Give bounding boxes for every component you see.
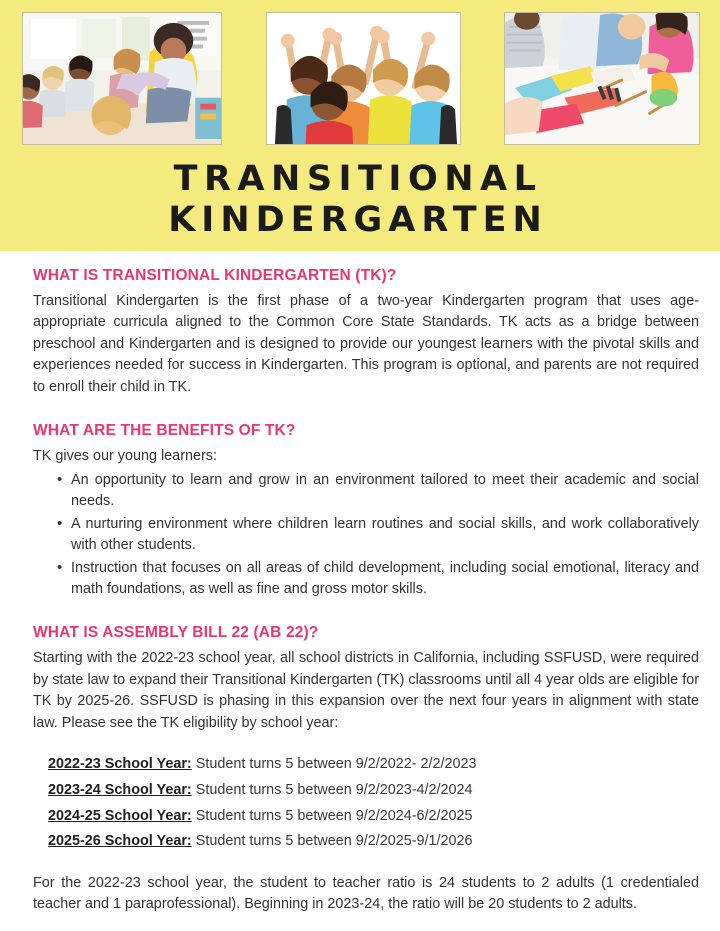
children-cheering-photo: [266, 12, 461, 145]
page-title: TRANSITIONAL KINDERGARTEN: [0, 159, 720, 240]
teacher-reading-to-children-photo: [22, 12, 222, 145]
list-item: A nurturing environment where children l…: [57, 514, 699, 557]
section-what-is-tk: WHAT IS TRANSITIONAL KINDERGARTEN (TK)? …: [33, 267, 700, 398]
eligibility-text: Student turns 5 between 9/2/2024-6/2/202…: [192, 808, 473, 824]
benefits-list: An opportunity to learn and grow in an e…: [33, 470, 699, 601]
eligibility-text: Student turns 5 between 9/2/2025-9/1/202…: [192, 833, 473, 849]
section-heading-benefits: WHAT ARE THE BENEFITS OF TK?: [33, 422, 700, 440]
content-area: WHAT IS TRANSITIONAL KINDERGARTEN (TK)? …: [0, 251, 720, 916]
section-benefits: WHAT ARE THE BENEFITS OF TK? TK gives ou…: [33, 422, 700, 600]
eligibility-list: 2022-23 School Year: Student turns 5 bet…: [33, 752, 700, 855]
section-paragraph-what-is-tk: Transitional Kindergarten is the first p…: [33, 291, 699, 398]
eligibility-row-2023-24: 2023-24 School Year: Student turns 5 bet…: [48, 778, 700, 804]
eligibility-row-2022-23: 2022-23 School Year: Student turns 5 bet…: [48, 752, 700, 778]
ratio-paragraph: For the 2022-23 school year, the student…: [33, 873, 699, 916]
eligibility-text: Student turns 5 between 9/2/2023-4/2/202…: [192, 782, 473, 798]
eligibility-row-2024-25: 2024-25 School Year: Student turns 5 bet…: [48, 804, 700, 830]
eligibility-label: 2022-23 School Year:: [48, 756, 192, 772]
header-banner: TRANSITIONAL KINDERGARTEN: [0, 0, 720, 251]
page-title-line-2: KINDERGARTEN: [0, 200, 716, 241]
section-assembly-bill-22: WHAT IS ASSEMBLY BILL 22 (AB 22)? Starti…: [33, 624, 700, 915]
children-craft-table-photo: [504, 12, 700, 145]
eligibility-label: 2024-25 School Year:: [48, 808, 192, 824]
spacer-2: [33, 602, 700, 624]
children-craft-illustration: [505, 13, 699, 144]
section-heading-ab22: WHAT IS ASSEMBLY BILL 22 (AB 22)?: [33, 624, 700, 642]
benefits-intro: TK gives our young learners:: [33, 446, 699, 467]
spacer-4: [33, 855, 700, 873]
teacher-reading-illustration: [23, 13, 221, 144]
list-item: An opportunity to learn and grow in an e…: [57, 470, 699, 513]
eligibility-text: Student turns 5 between 9/2/2022- 2/2/20…: [192, 756, 477, 772]
eligibility-row-2025-26: 2025-26 School Year: Student turns 5 bet…: [48, 829, 700, 855]
eligibility-label: 2025-26 School Year:: [48, 833, 192, 849]
page-title-line-1: TRANSITIONAL: [174, 159, 543, 199]
section-paragraph-ab22: Starting with the 2022-23 school year, a…: [33, 648, 699, 734]
children-cheering-illustration: [267, 13, 460, 144]
spacer-1: [33, 400, 700, 422]
list-item: Instruction that focuses on all areas of…: [57, 558, 699, 601]
section-heading-what-is-tk: WHAT IS TRANSITIONAL KINDERGARTEN (TK)?: [33, 267, 700, 285]
eligibility-label: 2023-24 School Year:: [48, 782, 192, 798]
photo-strip: [0, 0, 720, 145]
spacer-3: [33, 734, 700, 752]
